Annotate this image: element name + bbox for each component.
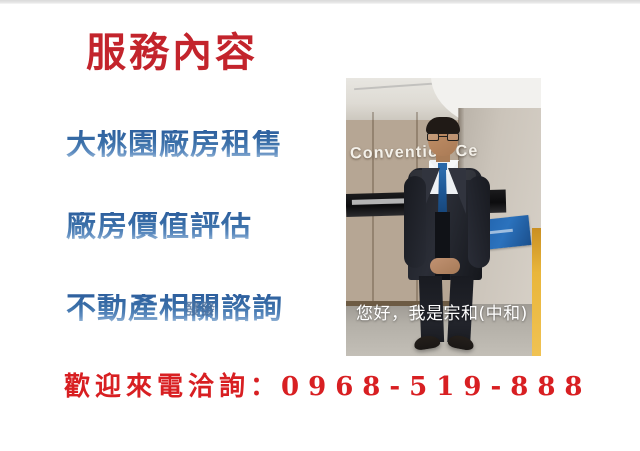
photo-caption: 您好，我是宗和(中和) (356, 306, 528, 323)
service-item-3: 不動產相關諮詢 (66, 294, 283, 324)
service-item-2: 廠房價值評估 (66, 212, 252, 242)
person-lapel-right (448, 168, 466, 214)
person-hair (426, 117, 460, 134)
person-hands (430, 258, 460, 274)
person-arm-left (404, 176, 426, 268)
top-divider (0, 0, 640, 4)
contact-phone-number: 0968-519-888 (281, 372, 592, 402)
service-item-1: 大桃園廠房租售 (66, 130, 283, 160)
contact-prefix-label: 歡迎來電洽詢： (64, 372, 281, 402)
contact-line: 歡迎來電洽詢：0968-519-888 (64, 372, 592, 403)
person-arm-right (468, 176, 490, 268)
eyeglasses-icon (427, 133, 459, 141)
page-title: 服務內容 (86, 33, 258, 73)
overlap-glyph-artifact: 發發 (185, 302, 215, 317)
photo-yellow-trim (532, 228, 541, 356)
slide-canvas: 服務內容 大桃園廠房租售 廠房價值評估 不動產相關諮詢 發發 歡迎來電洽詢：09… (0, 0, 640, 451)
